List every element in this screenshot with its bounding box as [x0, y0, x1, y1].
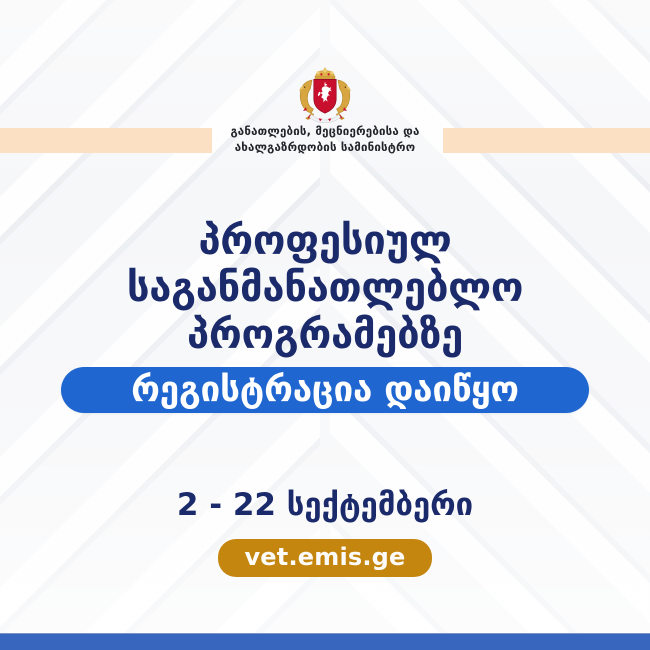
- registration-banner-label: რეგისტრაცია დაიწყო: [131, 373, 519, 408]
- registration-dates: 2 - 22 სექტემბერი: [0, 487, 650, 523]
- poster-canvas: განათლების, მეცნიერებისა და ახალგაზრდობი…: [0, 0, 650, 650]
- page-title-line3: პროგრამებზე: [0, 312, 650, 359]
- bottom-accent-bar: [0, 633, 650, 650]
- ministry-name-line2: ახალგაზრდობის სამინისტრო: [0, 140, 650, 156]
- registration-banner[interactable]: რეგისტრაცია დაიწყო: [61, 367, 589, 413]
- website-url-pill[interactable]: vet.emis.ge: [218, 539, 431, 577]
- emblem-container: [0, 64, 650, 124]
- ministry-name: განათლების, მეცნიერებისა და ახალგაზრდობი…: [0, 124, 650, 155]
- website-link-container: vet.emis.ge: [0, 539, 650, 577]
- page-title: პროფესიულ საგანმანათლებლო პროგრამებზე: [0, 218, 650, 359]
- georgia-coat-of-arms-icon: [291, 65, 359, 123]
- ministry-name-line1: განათლების, მეცნიერებისა და: [0, 124, 650, 140]
- page-title-line2: საგანმანათლებლო: [0, 265, 650, 312]
- page-title-line1: პროფესიულ: [0, 218, 650, 265]
